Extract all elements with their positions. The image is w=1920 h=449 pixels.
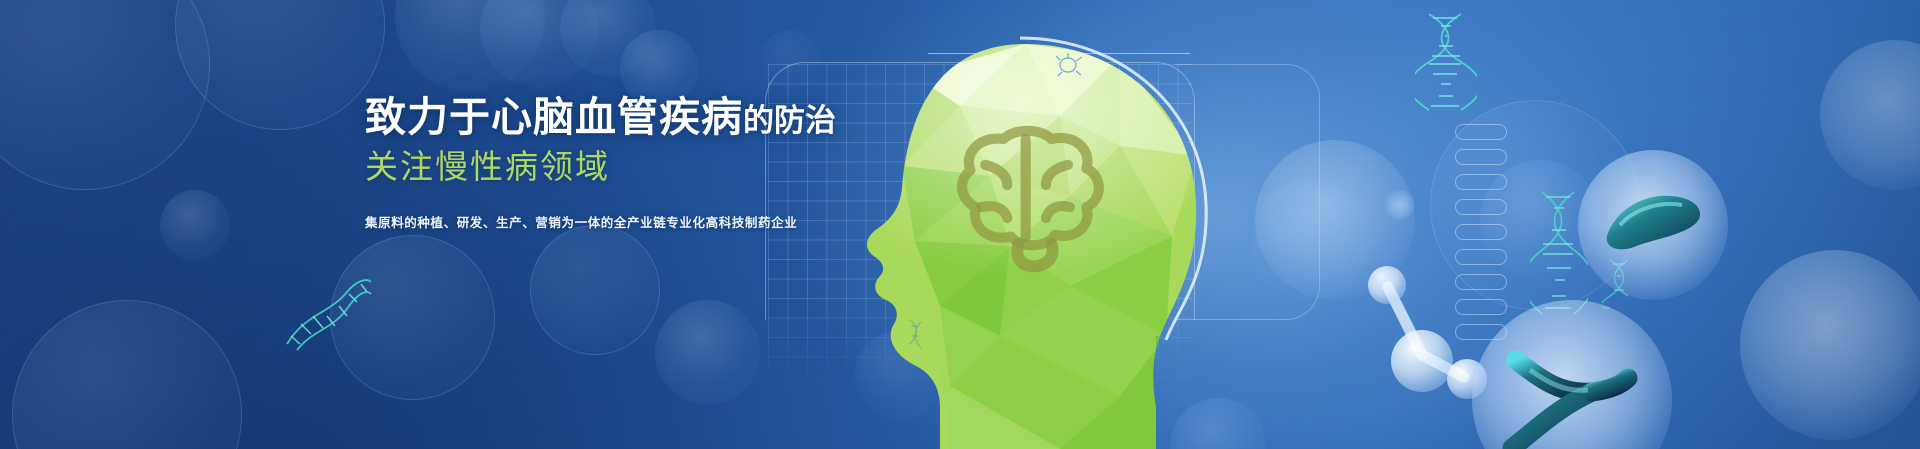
hud-top-line <box>928 53 1190 54</box>
bokeh-bubble <box>1020 217 1074 271</box>
bokeh-bubble <box>330 235 495 400</box>
banner-subtitle: 关注慢性病领域 <box>365 149 835 186</box>
bokeh-bubble <box>395 0 545 92</box>
hud-bar-row <box>928 162 1002 173</box>
bokeh-bubble <box>175 0 385 130</box>
hud-pill-row <box>1455 124 1507 140</box>
hud-bar-row <box>928 143 1002 154</box>
hud-pill-row <box>1455 199 1507 215</box>
hud-pill-row <box>1455 249 1507 265</box>
bokeh-bubble <box>0 0 210 190</box>
bokeh-bubble <box>760 30 820 90</box>
hud-bar-row <box>928 200 1002 211</box>
hud-pill-list <box>1455 124 1507 349</box>
hud-pill-row <box>1455 174 1507 190</box>
hud-pill-row <box>1455 274 1507 290</box>
dna-double-helix <box>283 272 373 352</box>
bokeh-bubble <box>855 330 945 420</box>
hud-bar-row <box>928 124 1002 135</box>
bokeh-bubble <box>1170 398 1266 449</box>
cell-halo <box>1820 40 1920 190</box>
bokeh-bubble <box>530 225 660 355</box>
hud-bar-row <box>928 219 1002 230</box>
headline-tail: 的防治 <box>743 103 836 138</box>
bokeh-bubble <box>560 0 656 76</box>
bokeh-bubble <box>160 190 230 260</box>
bokeh-bubble <box>12 300 242 449</box>
hud-bar-row <box>928 181 1002 192</box>
microbe-spore-icon <box>903 318 929 352</box>
cell-halo <box>1740 250 1920 440</box>
banner-copy: 致力于心脑血管疾病的防治 关注慢性病领域 集原料的种植、研发、生产、营销为一体的… <box>365 95 835 233</box>
page-title: 致力于心脑血管疾病的防治 <box>365 95 835 140</box>
brain-outline <box>962 131 1099 266</box>
bokeh-bubble <box>655 300 760 405</box>
cell-halo <box>1255 140 1415 300</box>
microbe-spore-icon <box>1055 52 1085 78</box>
hud-bar-list <box>928 124 1002 238</box>
headline-main: 致力于心脑血管疾病 <box>365 94 743 140</box>
hud-pill-row <box>1455 149 1507 165</box>
hero-banner: 致力于心脑血管疾病的防治 关注慢性病领域 集原料的种植、研发、生产、营销为一体的… <box>0 0 1920 449</box>
hud-pill-row <box>1455 224 1507 240</box>
bokeh-bubble <box>1133 256 1155 278</box>
bokeh-bubble <box>480 0 598 88</box>
dna-double-helix <box>1415 10 1477 120</box>
cell-halo <box>1578 150 1728 300</box>
cell-halo <box>1472 300 1672 449</box>
banner-caption: 集原料的种植、研发、生产、营销为一体的全产业链专业化高科技制药企业 <box>365 214 835 233</box>
hud-pill-row <box>1455 299 1507 315</box>
polygonal-human-head-profile <box>820 36 1290 449</box>
